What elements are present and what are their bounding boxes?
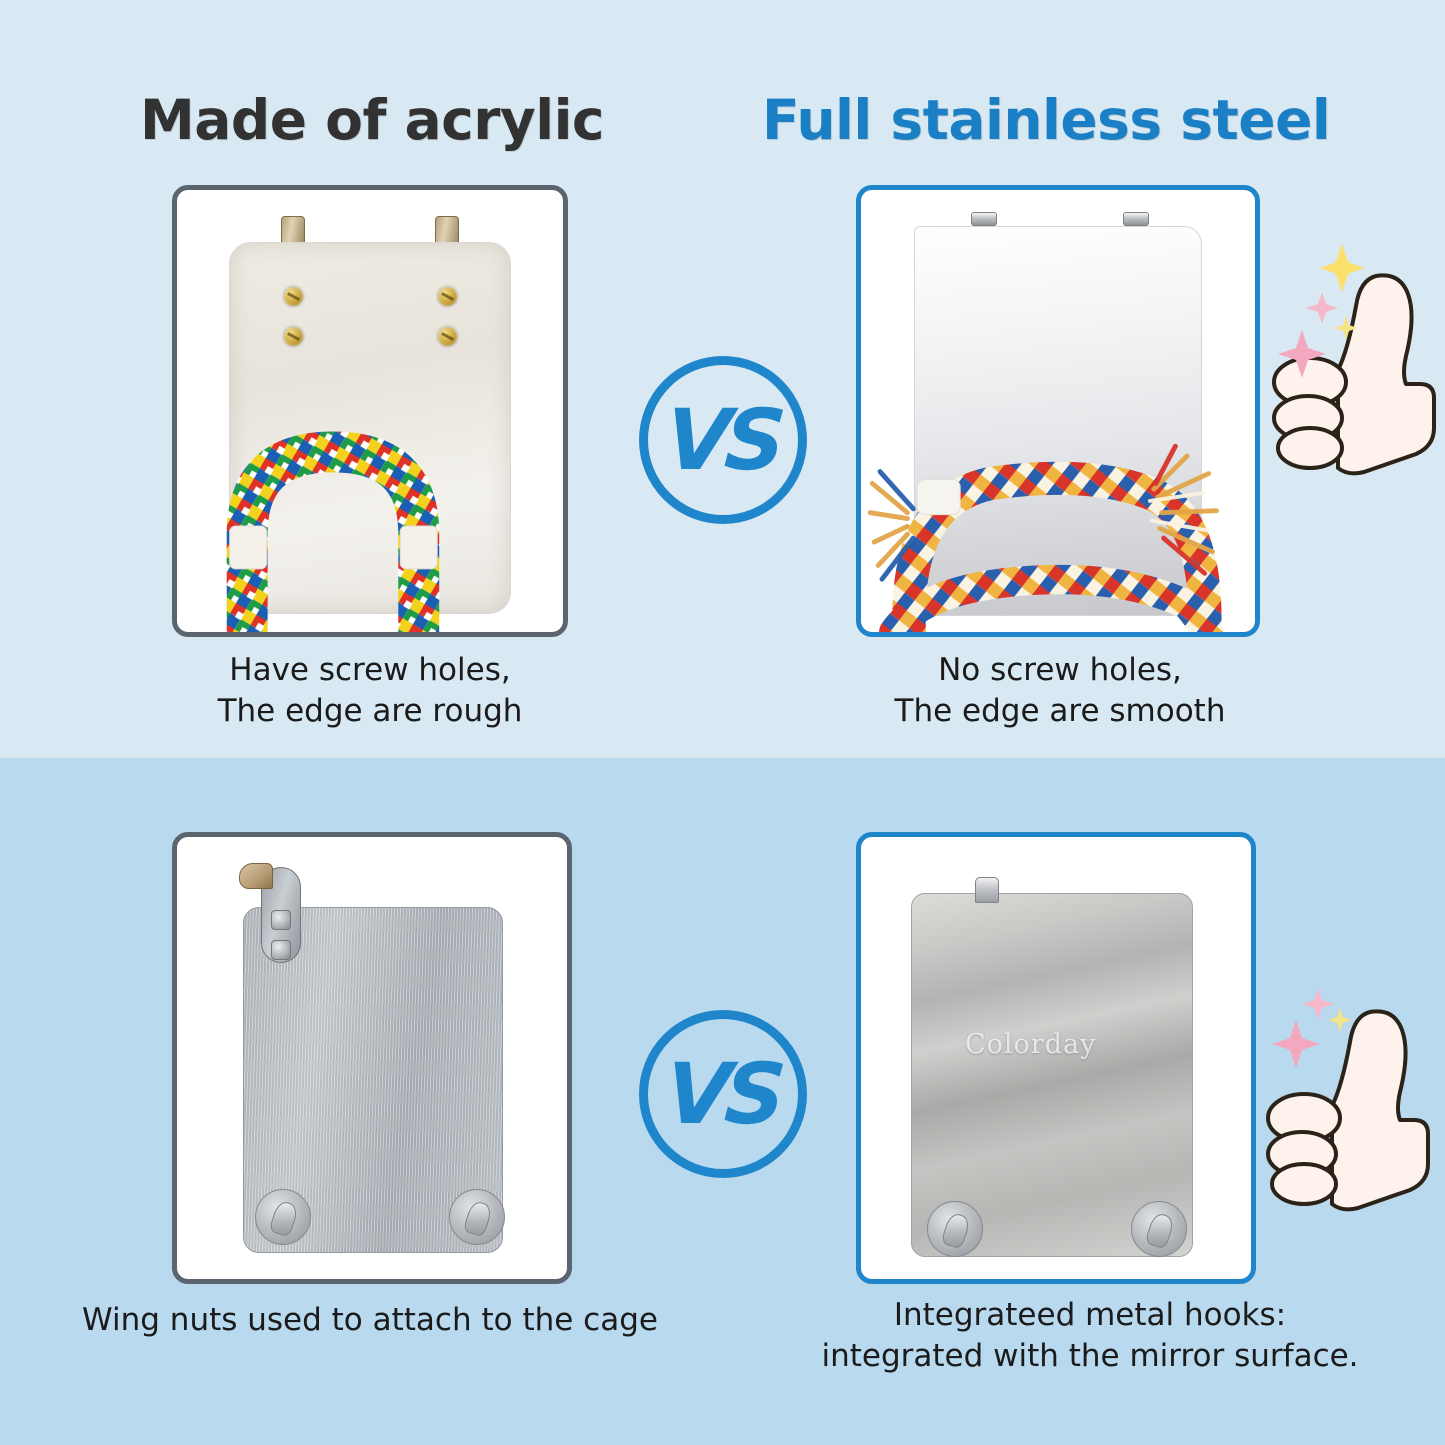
thumbs-up-icon-2 bbox=[1262, 968, 1442, 1218]
product-card-integrated-hooks: Colorday bbox=[856, 832, 1256, 1284]
vs-label-2: VS bbox=[663, 1052, 782, 1136]
vs-badge-top: VS bbox=[639, 356, 807, 524]
hook-bolt-upper-icon bbox=[271, 910, 291, 930]
caption-acrylic: Have screw holes, The edge are rough bbox=[120, 650, 620, 732]
product-card-stainless bbox=[856, 185, 1260, 637]
product-card-acrylic bbox=[172, 185, 568, 637]
thumbs-up-icon bbox=[1268, 232, 1445, 482]
hook-tab-icon bbox=[239, 863, 273, 889]
comparison-section-bottom: Colorday VS bbox=[0, 758, 1445, 1445]
brand-etch-label: Colorday bbox=[965, 1029, 1096, 1060]
caption-stainless: No screw holes, The edge are smooth bbox=[810, 650, 1310, 732]
wingnut-photo bbox=[177, 837, 567, 1279]
hook-bolt-lower-icon bbox=[271, 940, 291, 960]
caption-wingnuts: Wing nuts used to attach to the cage bbox=[70, 1300, 670, 1341]
sparkle-icon-2 bbox=[1272, 988, 1352, 1068]
integrated-hook-photo: Colorday bbox=[861, 837, 1251, 1279]
acrylic-photo bbox=[177, 190, 563, 632]
infographic-page: Made of acrylic Full stainless steel bbox=[0, 0, 1445, 1445]
heading-acrylic: Made of acrylic bbox=[140, 88, 604, 152]
wing-nut-left-icon bbox=[255, 1189, 311, 1245]
comparison-section-top: Made of acrylic Full stainless steel bbox=[0, 0, 1445, 758]
frayed-rope-perch bbox=[861, 190, 1255, 632]
integrated-clip-hook-icon bbox=[975, 877, 999, 903]
caption-integrated-hooks: Integrateed metal hooks: integrated with… bbox=[790, 1295, 1390, 1377]
heading-stainless-steel: Full stainless steel bbox=[762, 88, 1330, 152]
stainless-photo bbox=[861, 190, 1255, 632]
wing-nut-right-icon-2 bbox=[1131, 1201, 1187, 1257]
wing-nut-right-icon bbox=[449, 1189, 505, 1245]
wing-nut-left-icon-2 bbox=[927, 1201, 983, 1257]
vs-badge-bottom: VS bbox=[639, 1010, 807, 1178]
rainbow-rope-perch bbox=[177, 190, 563, 632]
product-card-wingnuts bbox=[172, 832, 572, 1284]
vs-label: VS bbox=[663, 398, 782, 482]
